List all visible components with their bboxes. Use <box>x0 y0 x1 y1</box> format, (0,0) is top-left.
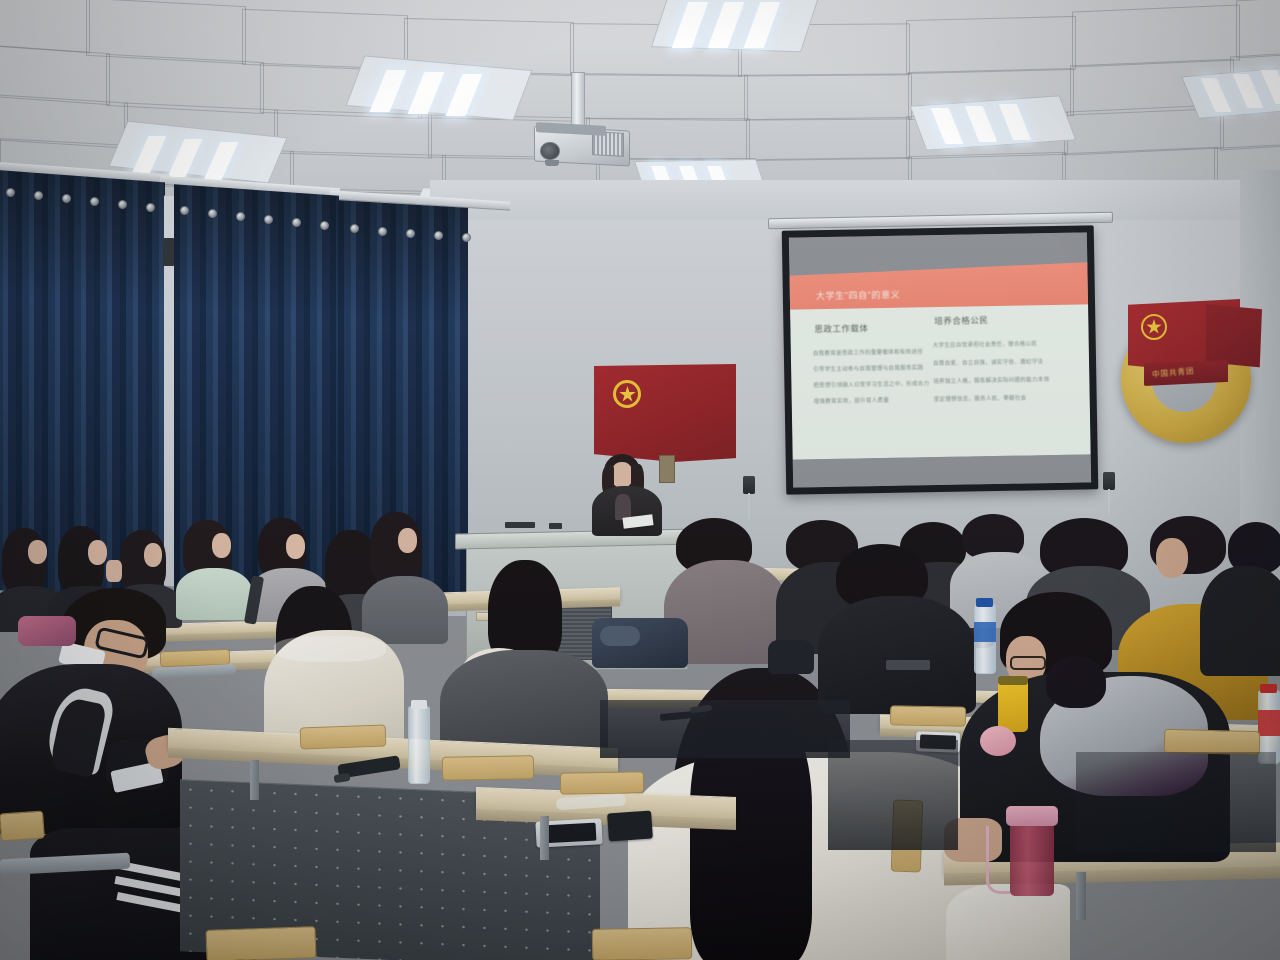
chair-back[interactable] <box>442 755 534 781</box>
chair-back[interactable] <box>300 725 387 750</box>
lectern-controls[interactable] <box>505 522 535 528</box>
chair-back[interactable] <box>560 771 644 794</box>
yellow-cup[interactable] <box>998 680 1028 732</box>
slide-content: 大学生"四自"的意义 思政工作载体 自我教育是思政工作的重要载体和有效途径 引导… <box>789 232 1091 487</box>
youth-league-flag <box>594 364 736 462</box>
slide-body-line: 增强教育实效，提升育人质量 <box>814 396 890 405</box>
chair-back[interactable] <box>890 705 966 726</box>
projection-screen[interactable]: 大学生"四自"的意义 思政工作载体 自我教育是思政工作的重要载体和有效途径 引导… <box>782 225 1099 494</box>
chair-back[interactable] <box>592 927 693 960</box>
back-wall-upper <box>430 180 1280 220</box>
chair-back[interactable] <box>0 810 45 841</box>
slide-title: 大学生"四自"的意义 <box>816 288 901 302</box>
backpack-dark[interactable] <box>768 640 814 674</box>
slide-column-heading: 培养合格公民 <box>934 314 988 327</box>
chair-back[interactable] <box>205 926 316 960</box>
plush-pink[interactable] <box>980 726 1016 756</box>
slide-column-heading: 思政工作载体 <box>814 322 868 335</box>
lectern-controls[interactable] <box>549 523 562 529</box>
slide-body-line: 坚定理想信念，服务人民、奉献社会 <box>934 393 1027 403</box>
classroom-photo: 大学生"四自"的意义 思政工作载体 自我教育是思政工作的重要载体和有效途径 引导… <box>0 0 1280 960</box>
phone-black-desk[interactable] <box>607 810 653 841</box>
